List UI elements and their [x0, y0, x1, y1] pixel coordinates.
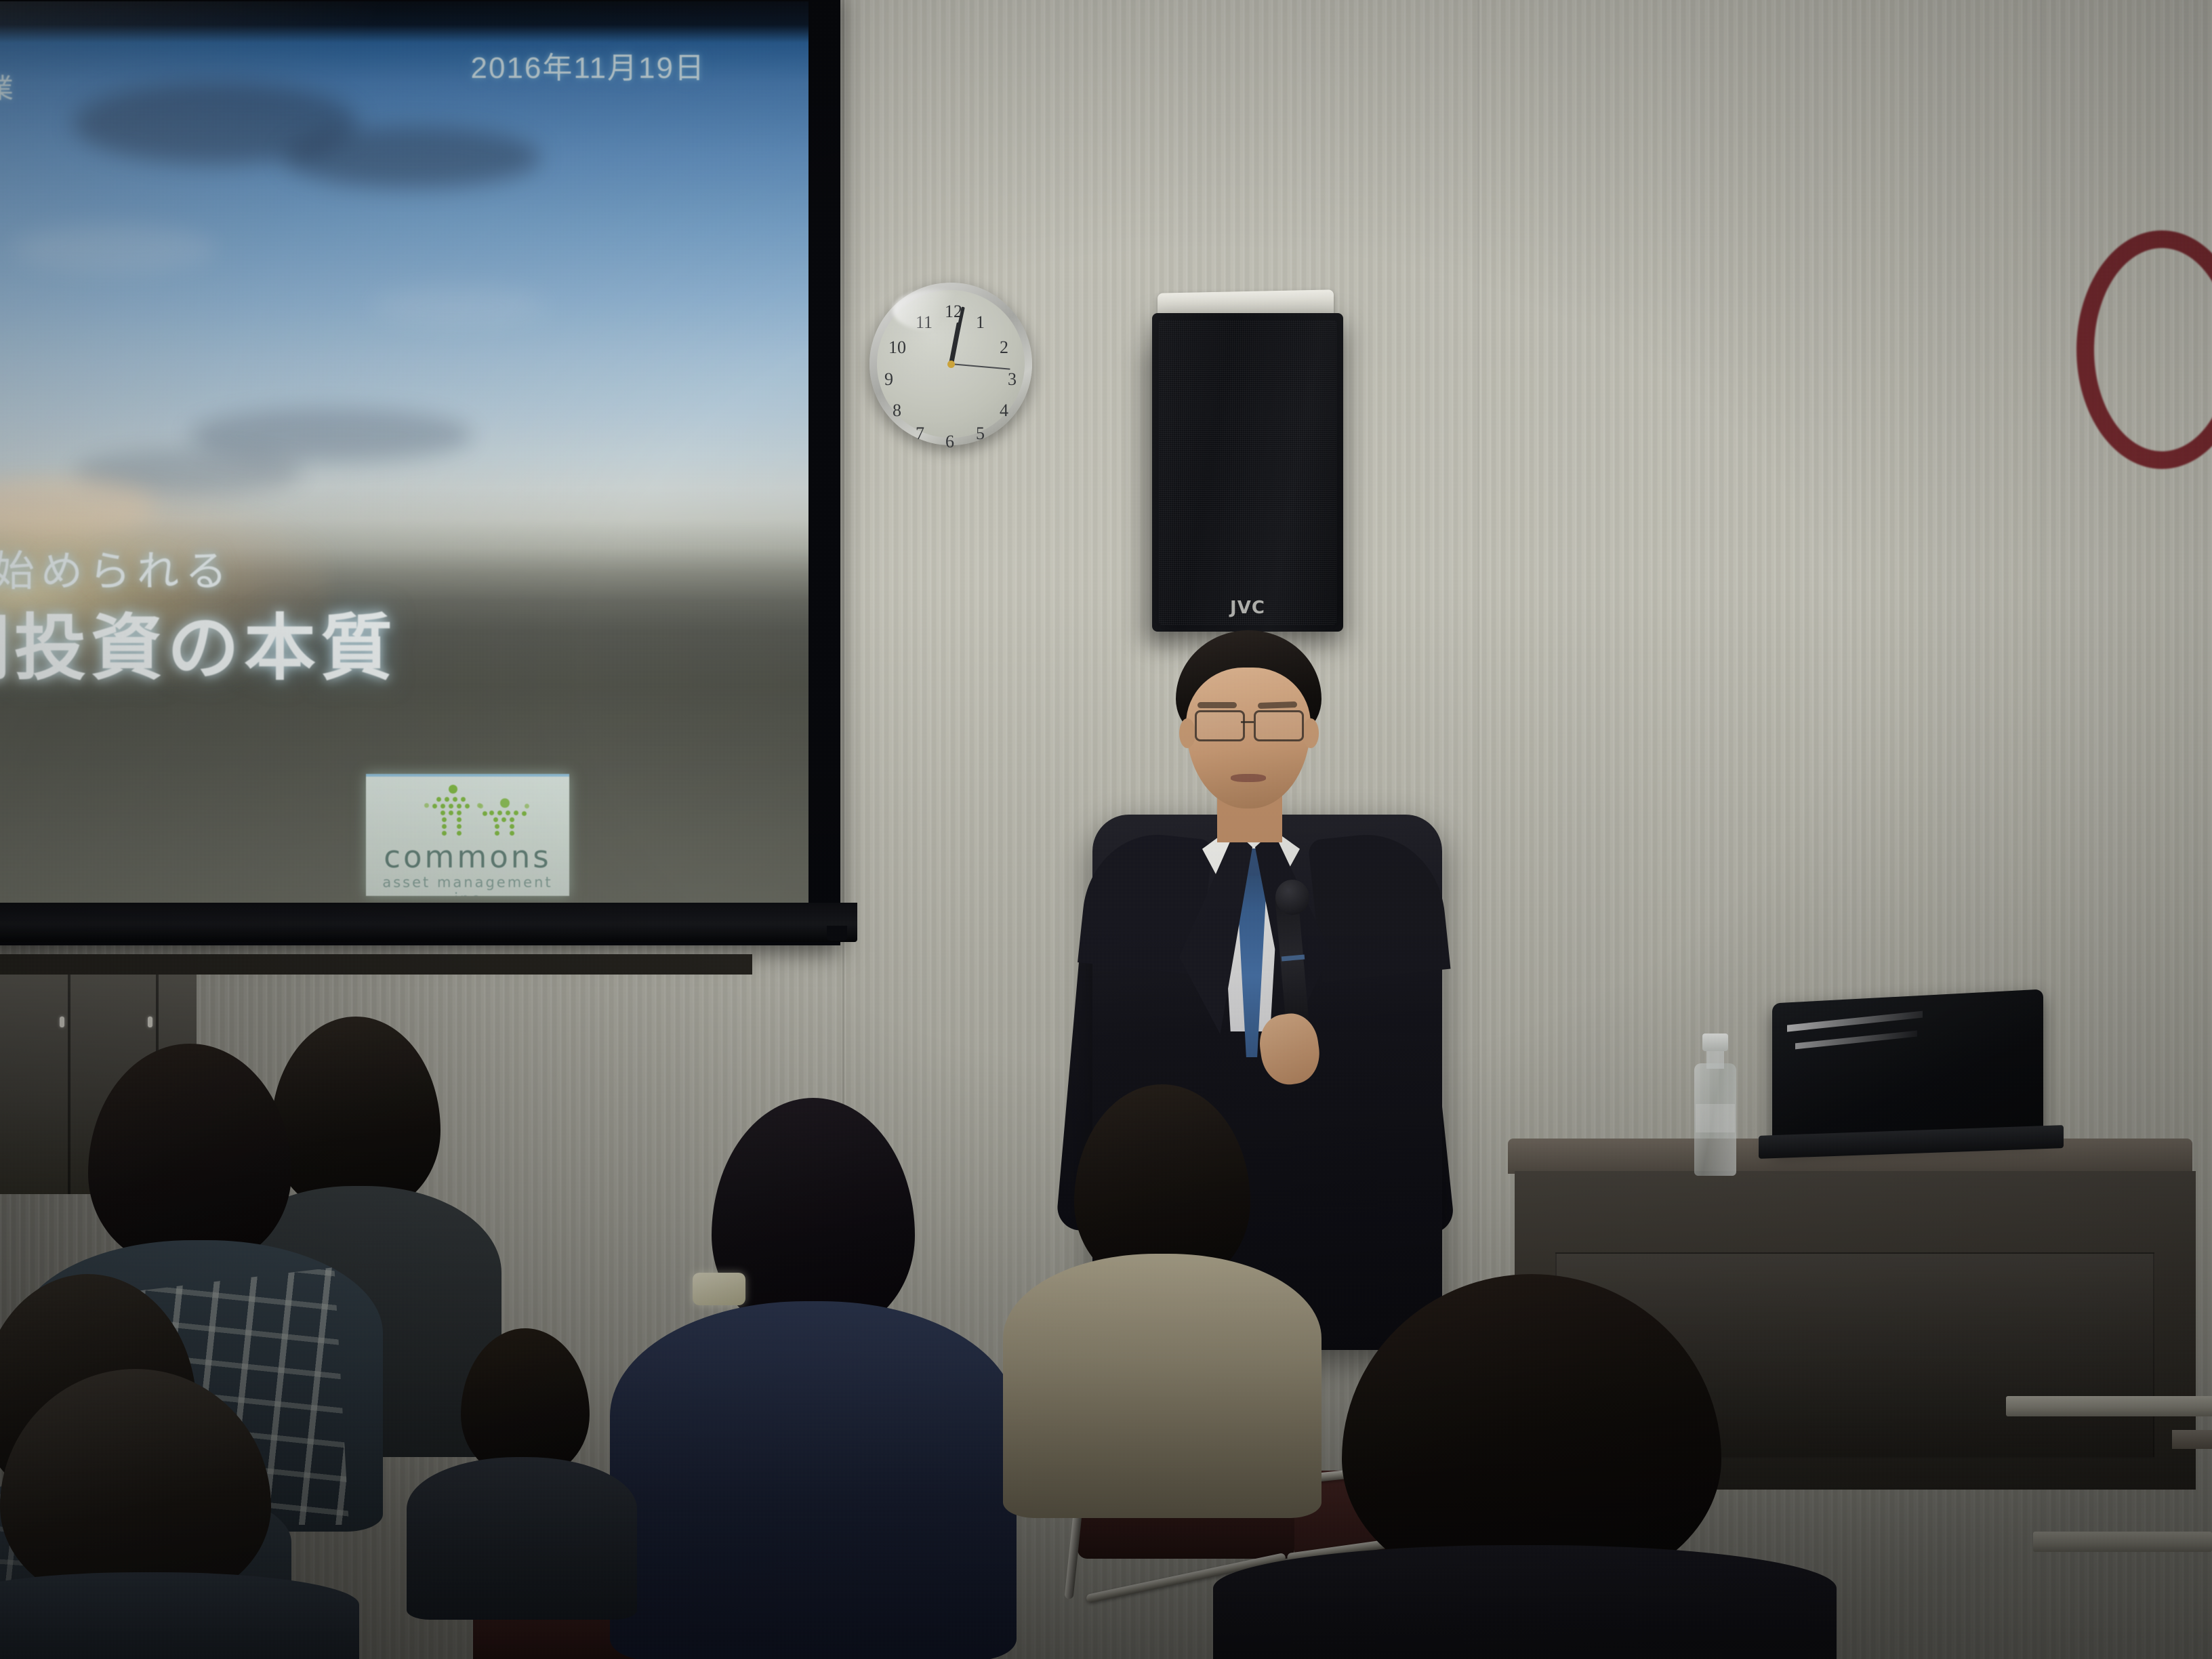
desk-edge [2006, 1396, 2212, 1416]
presentation-room-photo: 業 2016年11月19日 ら始められる 期投資の本質 [0, 0, 2212, 1659]
laptop-lid [1772, 989, 2043, 1149]
audience-head [0, 1369, 271, 1606]
clock-numeral: 10 [888, 337, 906, 358]
commons-logo-card: commons asset management inc [366, 774, 569, 896]
glasses-bridge [1241, 721, 1254, 723]
audience-torso [407, 1457, 637, 1620]
bottle-cap [1702, 1033, 1728, 1051]
audience-head [88, 1044, 291, 1267]
hair-clip [693, 1273, 745, 1305]
audience-torso [610, 1301, 1017, 1659]
presenter-ear [1303, 718, 1319, 748]
speaker-cabinet: JVC [1152, 313, 1343, 632]
audience-member [420, 1328, 623, 1620]
desk-edge [2033, 1532, 2212, 1552]
audience-member [1267, 1274, 1782, 1659]
slide-subtitle: ら始められる [0, 537, 233, 598]
side-shelf [2172, 1430, 2212, 1449]
jvc-brand-logo: JVC [1152, 598, 1343, 618]
clock-second-hand [951, 363, 1010, 370]
clock-numeral: 9 [884, 369, 893, 390]
clock-numeral: 4 [1000, 401, 1008, 421]
cloud [371, 286, 548, 327]
commons-wordmark: commons [366, 839, 569, 875]
clock-numeral: 1 [976, 312, 985, 333]
bottle-label [1696, 1104, 1735, 1132]
projection-screen: 業 2016年11月19日 ら始められる 期投資の本質 [0, 0, 840, 956]
audience-member [0, 1369, 332, 1659]
presenter-mouth [1231, 774, 1266, 782]
cabinet-top-trim [0, 954, 752, 975]
wall-speaker: JVC [1152, 313, 1349, 645]
cabinet-handle[interactable] [148, 1017, 152, 1027]
clock-numeral: 3 [1008, 369, 1017, 390]
commons-figures-icon [366, 785, 569, 838]
clock-glass-glare [893, 289, 977, 331]
cloud [283, 127, 541, 188]
commons-tagline: asset management inc [366, 874, 569, 896]
screen-surface: 業 2016年11月19日 ら始められる 期投資の本質 [0, 1, 808, 903]
speaker-grille [1159, 320, 1336, 625]
clock-numeral: 2 [1000, 337, 1008, 358]
glasses-icon [1195, 710, 1245, 741]
audience-head [461, 1328, 590, 1477]
audience-torso [0, 1572, 359, 1659]
presenter-eyebrow [1197, 702, 1237, 708]
cabinet-handle[interactable] [60, 1017, 64, 1027]
slide-corner-label: 業 [0, 66, 14, 106]
glasses-icon [1254, 710, 1304, 741]
laptop-screen-highlight [1787, 1011, 1923, 1032]
audience-torso [1213, 1545, 1837, 1659]
presenter-ear [1179, 718, 1195, 748]
clock-numeral: 6 [945, 432, 954, 452]
clock-center-pin [947, 361, 955, 368]
audience-member [1017, 1084, 1308, 1504]
laptop[interactable] [1772, 996, 2064, 1166]
clock-numeral: 5 [976, 424, 985, 444]
cloud [12, 225, 216, 272]
laptop-screen-highlight [1795, 1031, 1917, 1050]
screen-weight-bar [0, 903, 857, 942]
clock-numeral: 8 [893, 401, 901, 421]
clock-numeral: 7 [916, 424, 924, 444]
audience-member [651, 1098, 969, 1659]
wall-clock: 12 1 2 3 4 5 6 7 8 9 10 11 [869, 283, 1032, 445]
slide-title: 期投資の本質 [0, 590, 397, 694]
slide-date: 2016年11月19日 [471, 43, 706, 87]
water-bottle [1694, 1033, 1736, 1176]
